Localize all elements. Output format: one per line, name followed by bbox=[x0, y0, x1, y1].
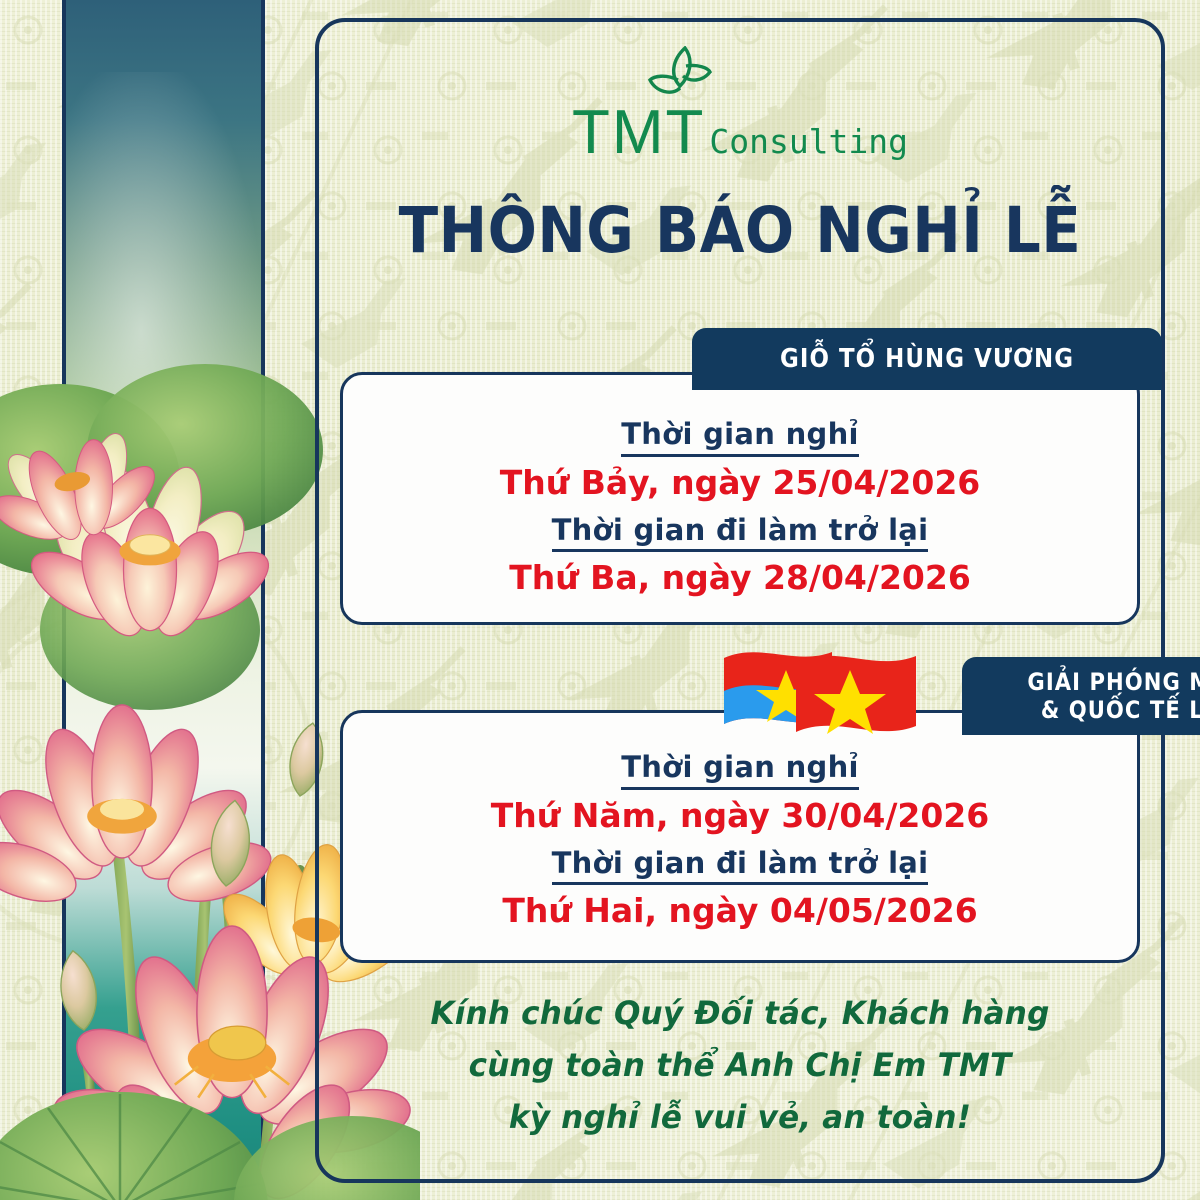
return-value: Thứ Hai, ngày 04/05/2026 bbox=[502, 890, 977, 933]
leave-start-value: Thứ Năm, ngày 30/04/2026 bbox=[491, 795, 989, 838]
greeting-line-2: cùng toàn thể Anh Chị Em TMT bbox=[333, 1040, 1148, 1092]
greeting-line-3: kỳ nghỉ lễ vui vẻ, an toàn! bbox=[333, 1092, 1148, 1144]
holiday-card-hung-king: Thời gian nghỉ Thứ Bảy, ngày 25/04/2026 … bbox=[340, 372, 1140, 625]
return-label: Thời gian đi làm trở lại bbox=[552, 845, 929, 885]
leave-start-label: Thời gian nghỉ bbox=[621, 749, 859, 789]
lotus-leaf-icon bbox=[644, 46, 718, 106]
poster-content: TMT Consulting THÔNG BÁO NGHỈ LỄ Thời gi… bbox=[320, 20, 1160, 1180]
card-tab-label-line2: & QUỐC TẾ LAO ĐỘNG 1.5 bbox=[1028, 696, 1200, 724]
card-tab-label: GIỖ TỔ HÙNG VƯƠNG bbox=[780, 344, 1074, 374]
page-title: THÔNG BÁO NGHỈ LỄ bbox=[354, 198, 1127, 264]
return-label: Thời gian đi làm trở lại bbox=[552, 512, 929, 552]
holiday-announcement-poster: TMT Consulting THÔNG BÁO NGHỈ LỄ Thời gi… bbox=[0, 0, 1200, 1200]
card-tab-label-line1: GIẢI PHÓNG MIỀN NAM 30.4 bbox=[1028, 668, 1200, 696]
card-tab-reunification-labor: GIẢI PHÓNG MIỀN NAM 30.4 & QUỐC TẾ LAO Đ… bbox=[962, 657, 1200, 735]
leave-start-value: Thứ Bảy, ngày 25/04/2026 bbox=[500, 462, 981, 505]
logo-suffix: Consulting bbox=[709, 122, 908, 161]
leave-start-label: Thời gian nghỉ bbox=[621, 416, 859, 456]
card-tab-hung-king: GIỖ TỔ HÙNG VƯƠNG bbox=[692, 328, 1162, 390]
logo-text: TMT bbox=[572, 102, 705, 164]
return-value: Thứ Ba, ngày 28/04/2026 bbox=[509, 557, 971, 600]
vietnam-flags-icon bbox=[710, 632, 950, 752]
greeting-message: Kính chúc Quý Đối tác, Khách hàng cùng t… bbox=[320, 988, 1160, 1143]
greeting-line-1: Kính chúc Quý Đối tác, Khách hàng bbox=[333, 988, 1148, 1040]
brand-logo: TMT Consulting bbox=[320, 46, 1160, 164]
card-body: Thời gian nghỉ Thứ Bảy, ngày 25/04/2026 … bbox=[343, 375, 1137, 622]
